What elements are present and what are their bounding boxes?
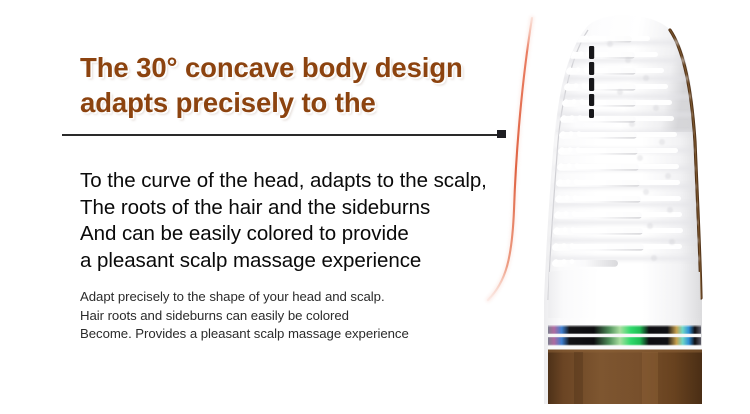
bristle-rows: [552, 35, 683, 267]
secondary-description: Adapt precisely to the shape of your hea…: [80, 288, 510, 344]
body-description: To the curve of the head, adapts to the …: [80, 168, 530, 274]
page-title: The 30° concave body design adapts preci…: [80, 50, 510, 120]
page-bottom-edge: [0, 404, 750, 414]
product-feature-banner: The 30° concave body design adapts preci…: [0, 0, 750, 414]
divider: [62, 128, 512, 142]
trim-band-lower: [548, 337, 701, 345]
neck-highlight: [548, 269, 701, 318]
band-gap: [548, 334, 701, 337]
divider-end-marker: [497, 130, 506, 138]
divider-line: [62, 134, 499, 136]
trim-band-group: [548, 326, 701, 346]
